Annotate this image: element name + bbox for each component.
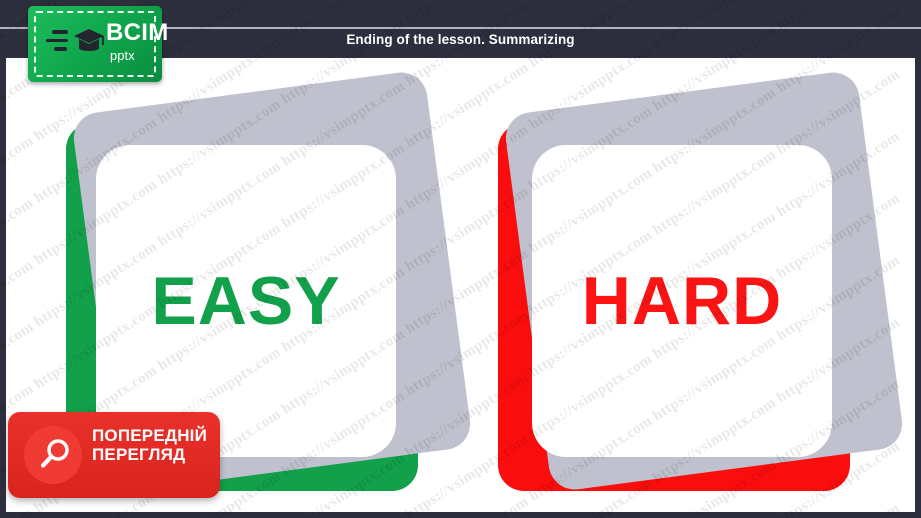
card-easy-label: EASY <box>96 145 396 457</box>
preview-badge-line1: ПОПЕРЕДНІЙ <box>92 426 214 445</box>
card-easy-front-layer: EASY <box>96 145 396 457</box>
preview-badge-line2: ПЕРЕГЛЯД <box>92 445 214 464</box>
bcim-logo[interactable]: BCIM pptx <box>28 6 162 82</box>
card-hard[interactable]: HARD <box>490 95 880 495</box>
preview-badge-text: ПОПЕРЕДНІЙ ПЕРЕГЛЯД <box>92 426 214 464</box>
motion-lines-icon <box>44 30 70 56</box>
card-hard-label: HARD <box>532 145 832 457</box>
slide-root: EASY HARD https://vsimpptx.com https://v… <box>0 0 921 518</box>
logo-subtitle-text: pptx <box>110 49 135 62</box>
magnifier-icon <box>38 438 72 472</box>
preview-badge[interactable]: ПОПЕРЕДНІЙ ПЕРЕГЛЯД <box>8 412 220 498</box>
graduation-cap-icon <box>72 26 106 60</box>
card-hard-front-layer: HARD <box>532 145 832 457</box>
logo-brand-text: BCIM <box>106 21 169 45</box>
